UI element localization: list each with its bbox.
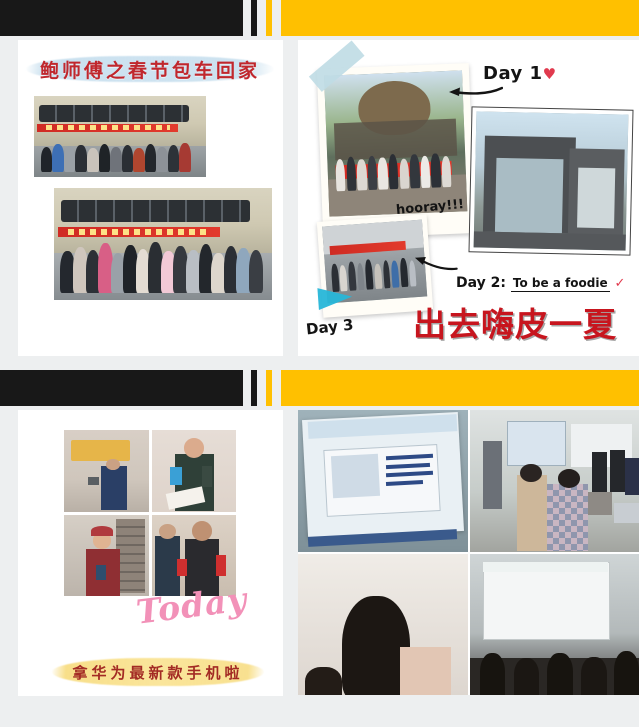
photo-bus-windows <box>39 105 189 122</box>
day1-text: Day 1 <box>483 63 543 84</box>
blue-arrow-icon <box>317 286 352 310</box>
divider-black-block-middle <box>0 370 243 406</box>
divider-black-thin-top <box>251 0 257 36</box>
photo-red-banner <box>37 124 178 132</box>
day2-prefix: Day 2: <box>456 275 506 291</box>
check-icon: ✓ <box>614 276 625 291</box>
top-left-title-text: 鲍师傅之春节包车回家 <box>40 56 260 83</box>
bakery-staff-with-phone <box>64 515 149 597</box>
ancient-gate-photo <box>468 106 633 255</box>
bus-group-photo-1 <box>34 96 206 177</box>
woman-holding-phone-and-box <box>152 430 237 512</box>
divider-black-block-top <box>0 0 243 36</box>
top-left-title: 鲍师傅之春节包车回家 <box>26 52 274 86</box>
divider-bar-middle <box>0 370 639 406</box>
heart-icon: ♥ <box>543 65 557 83</box>
divider-black-thin-middle <box>251 370 257 406</box>
training-photo-grid <box>298 410 639 695</box>
meeting-room-audience-1 <box>470 410 639 552</box>
divider-yellow-block-top <box>281 0 639 36</box>
day1-label: Day 1♥ <box>483 63 557 84</box>
arrow-left-icon <box>447 86 503 98</box>
attendee-close-up <box>298 554 468 696</box>
day2-label: Day 2: To be a foodie ✓ <box>456 275 625 291</box>
divider-yellow-thin-top <box>266 0 272 36</box>
day2-underlined-text: To be a foodie <box>511 276 610 292</box>
divider-bar-top <box>0 0 639 36</box>
divider-yellow-block-middle <box>281 370 639 406</box>
photo-inner <box>324 70 467 216</box>
bottom-left-caption-text: 拿华为最新款手机啦 <box>72 662 243 683</box>
meeting-room-audience-2 <box>470 554 639 696</box>
photo-bus-windows <box>61 200 251 222</box>
photo-inner <box>474 111 629 250</box>
top-right-headline: 出去嗨皮一夏 <box>413 298 617 346</box>
bottom-left-caption: 拿华为最新款手机啦 <box>52 655 264 689</box>
phone-photo-grid <box>64 430 236 596</box>
divider-yellow-thin-middle <box>266 370 272 406</box>
bus-group-photo-2 <box>54 188 272 300</box>
poster-page: 鲍师傅之春节包车回家 <box>0 0 639 727</box>
photo-people-row <box>37 138 202 172</box>
projector-slide-presentation <box>298 410 468 552</box>
photo-people-row <box>58 235 267 293</box>
store-sign-man-with-phone <box>64 430 149 512</box>
